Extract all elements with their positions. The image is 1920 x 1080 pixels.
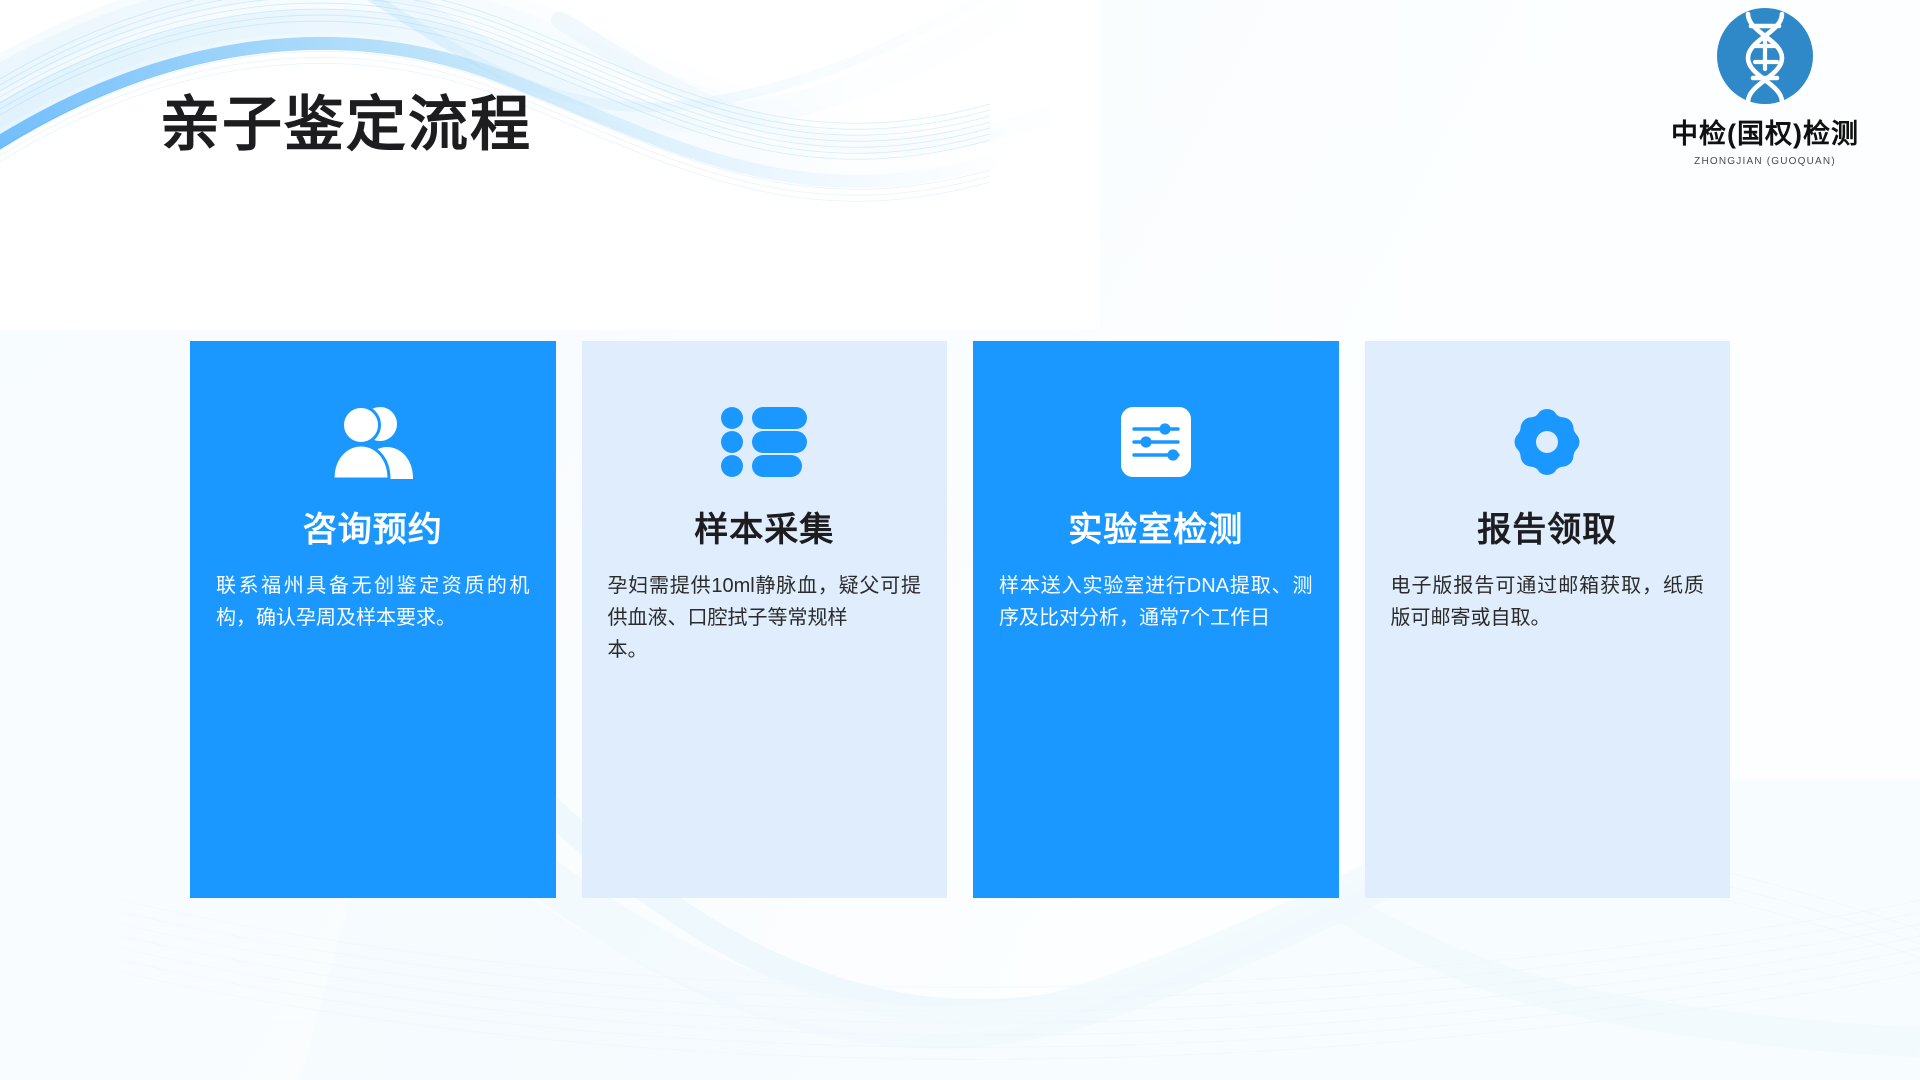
step-card-4[interactable]: 报告领取 电子版报告可通过邮箱获取，纸质版可邮寄或自取。 <box>1365 341 1731 898</box>
step-description: 样本送入实验室进行DNA提取、测序及比对分析，通常7个工作日 <box>995 570 1317 635</box>
process-steps: 咨询预约 联系福州具备无创鉴定资质的机构，确认孕周及样本要求。 样本采集 孕妇需… <box>190 341 1730 898</box>
brand-logo: 中检(国权)检测 ZHONGJIAN (GUOQUAN) <box>1650 6 1880 167</box>
step-description: 联系福州具备无创鉴定资质的机构，确认孕周及样本要求。 <box>212 570 534 635</box>
step-card-1[interactable]: 咨询预约 联系福州具备无创鉴定资质的机构，确认孕周及样本要求。 <box>190 341 556 898</box>
dna-helix-icon <box>1715 6 1815 106</box>
step-card-3[interactable]: 实验室检测 样本送入实验室进行DNA提取、测序及比对分析，通常7个工作日 <box>973 341 1339 898</box>
gear-icon <box>1387 389 1709 495</box>
step-title: 样本采集 <box>604 509 926 552</box>
step-description: 孕妇需提供10ml静脉血，疑父可提供血液、口腔拭子等常规样 本。 <box>604 570 926 667</box>
step-title: 咨询预约 <box>212 509 534 552</box>
step-description: 电子版报告可通过邮箱获取，纸质版可邮寄或自取。 <box>1387 570 1709 635</box>
users-icon <box>212 389 534 495</box>
step-title: 报告领取 <box>1387 509 1709 552</box>
step-title: 实验室检测 <box>995 509 1317 552</box>
list-icon <box>604 389 926 495</box>
step-card-2[interactable]: 样本采集 孕妇需提供10ml静脉血，疑父可提供血液、口腔拭子等常规样 本。 <box>582 341 948 898</box>
logo-name: 中检(国权)检测 <box>1650 112 1880 151</box>
logo-pinyin: ZHONGJIAN (GUOQUAN) <box>1650 156 1880 167</box>
sliders-settings-icon <box>995 389 1317 495</box>
page-title: 亲子鉴定流程 <box>160 92 532 158</box>
slide-canvas: 亲子鉴定流程 中检(国权)检测 ZHONGJIAN (GUOQUAN) <box>0 0 1920 1080</box>
